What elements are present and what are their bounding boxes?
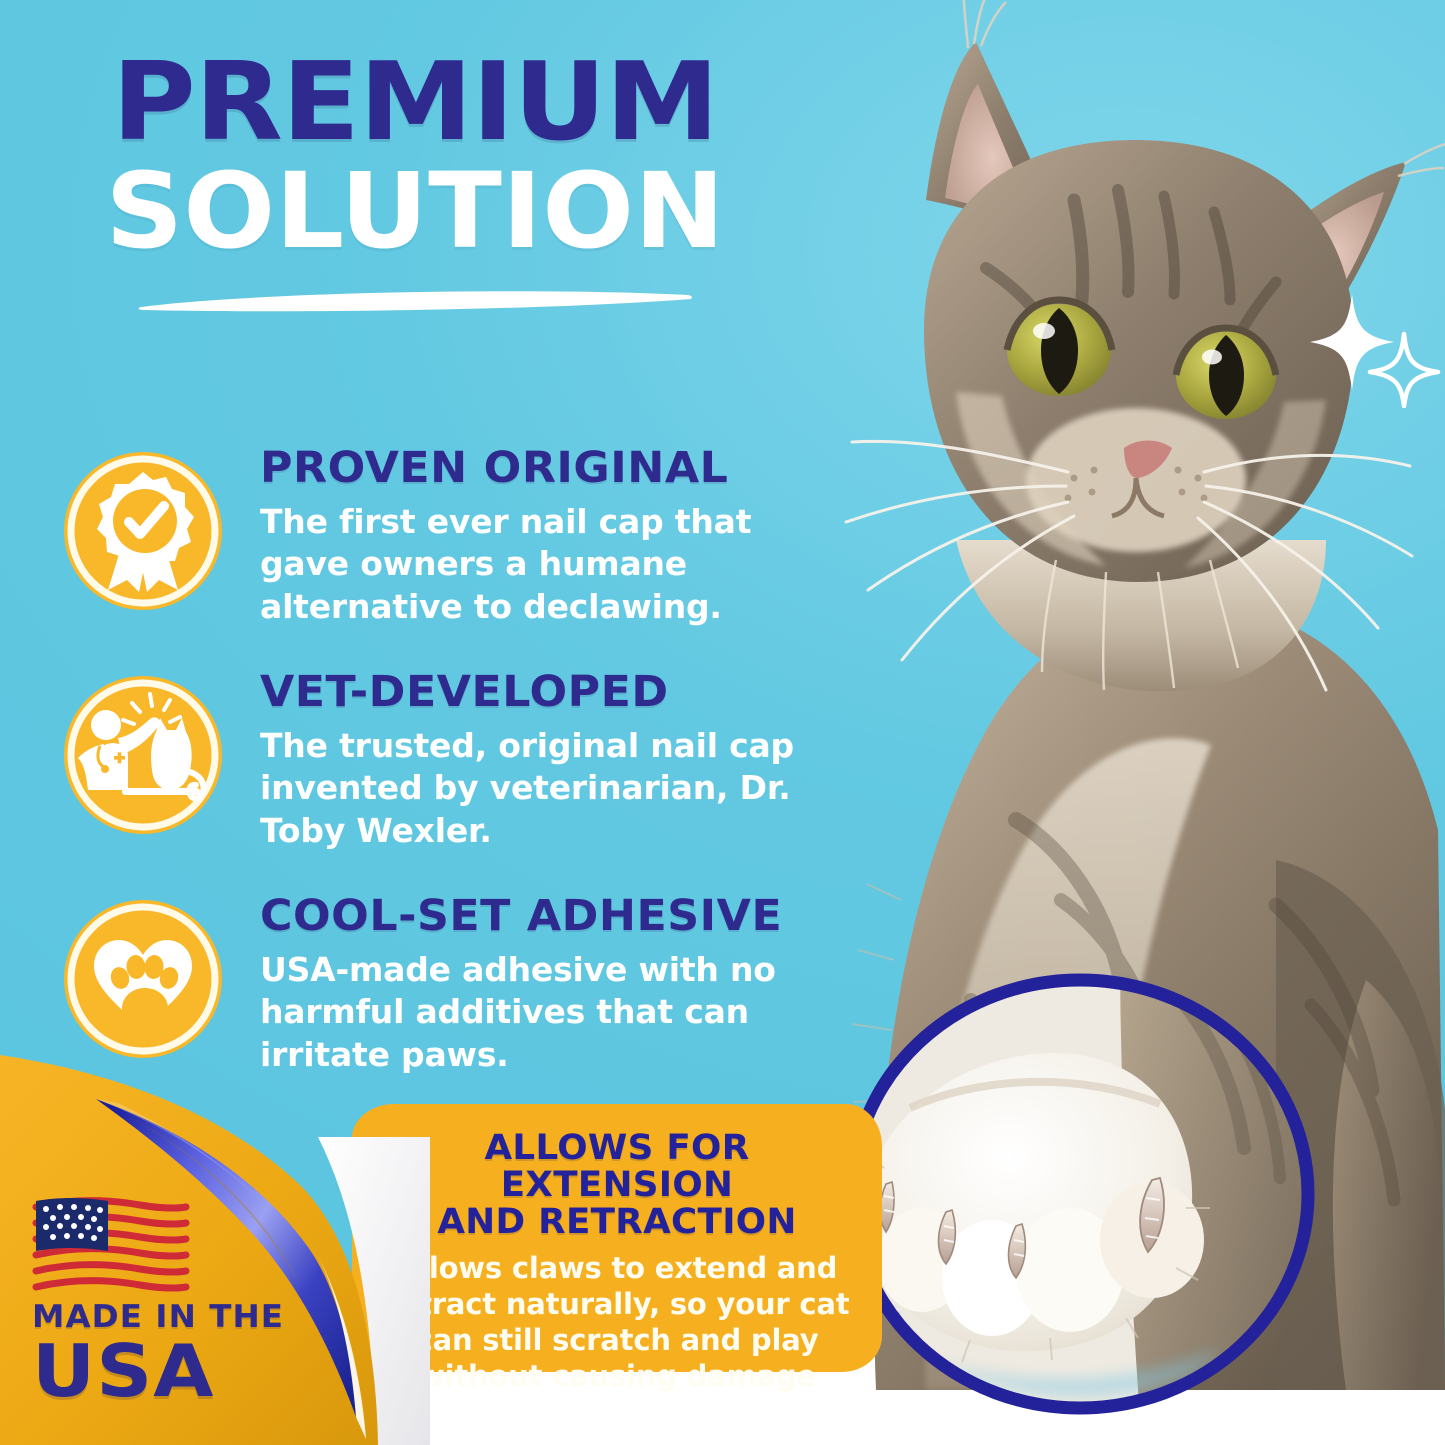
- callout-title-line2: AND RETRACTION: [373, 1204, 861, 1241]
- callout-body: Allows claws to extend and retract natur…: [378, 1251, 856, 1395]
- feature-item-proven-original: PROVEN ORIGINAL The first ever nail cap …: [60, 446, 850, 646]
- header: PREMIUM SOLUTION: [0, 52, 830, 315]
- callout-title: ALLOWS FOR EXTENSION AND RETRACTION: [373, 1130, 861, 1241]
- page-title-premium: PREMIUM: [0, 52, 855, 155]
- feature-item-vet-developed: VET-DEVELOPED The trusted, original nail…: [60, 670, 850, 870]
- page-title-solution: SOLUTION: [0, 159, 847, 263]
- product-infographic: PREMIUM SOLUTION: [0, 0, 1445, 1445]
- usa-label: USA: [32, 1337, 291, 1405]
- swoosh-divider-icon: [135, 285, 695, 315]
- heart-paw-icon: [60, 896, 226, 1062]
- cat-paw-closeup-inset: [840, 968, 1320, 1420]
- made-in-usa-text: MADE IN THE USA: [32, 1299, 272, 1405]
- feature-title: COOL-SET ADHESIVE: [260, 894, 868, 939]
- feature-title: PROVEN ORIGINAL: [260, 446, 868, 491]
- feature-list: PROVEN ORIGINAL The first ever nail cap …: [60, 446, 850, 1094]
- feature-body: The first ever nail cap that gave owners…: [260, 501, 840, 628]
- feature-title: VET-DEVELOPED: [260, 670, 868, 715]
- sparkle-decoration: [1300, 288, 1445, 408]
- callout-title-line1: ALLOWS FOR EXTENSION: [373, 1130, 861, 1204]
- vet-high-five-cat-icon: [60, 672, 226, 838]
- usa-flag-icon: [30, 1195, 190, 1295]
- award-ribbon-check-icon: [60, 448, 226, 614]
- callout-extension-retraction: ALLOWS FOR EXTENSION AND RETRACTION Allo…: [352, 1104, 882, 1372]
- feature-body: The trusted, original nail cap invented …: [260, 725, 850, 852]
